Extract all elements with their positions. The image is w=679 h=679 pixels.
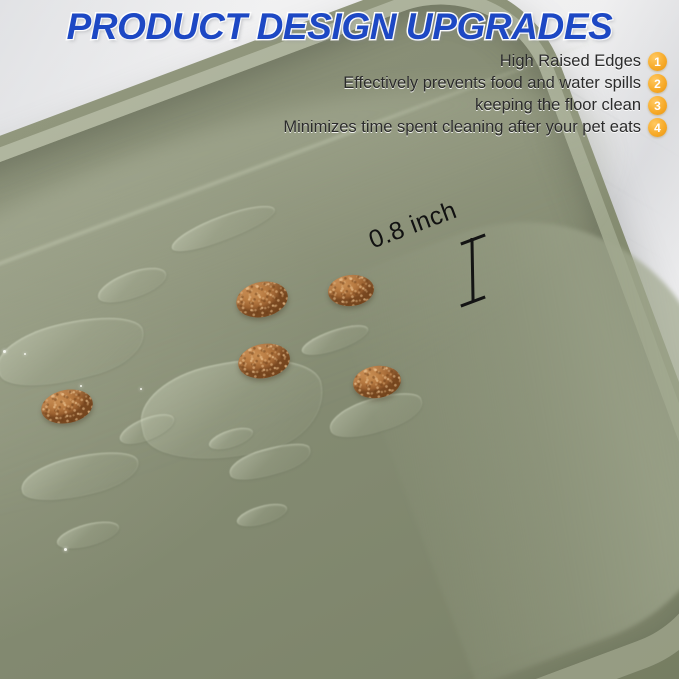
feature-text: Minimizes time spent cleaning after your… bbox=[283, 118, 641, 137]
feature-list: High Raised Edges 1 Effectively prevents… bbox=[27, 52, 667, 137]
list-item: Minimizes time spent cleaning after your… bbox=[283, 118, 667, 137]
feature-number-badge: 2 bbox=[648, 74, 667, 93]
feature-number-badge: 3 bbox=[648, 96, 667, 115]
list-item: Effectively prevents food and water spil… bbox=[343, 74, 667, 93]
feature-number-badge: 4 bbox=[648, 118, 667, 137]
page-title: PRODUCT DESIGN UPGRADES bbox=[0, 6, 679, 48]
feature-number-badge: 1 bbox=[648, 52, 667, 71]
feature-text: Effectively prevents food and water spil… bbox=[343, 74, 641, 93]
list-item: keeping the floor clean 3 bbox=[475, 96, 667, 115]
feature-text: High Raised Edges bbox=[500, 52, 641, 71]
list-item: High Raised Edges 1 bbox=[500, 52, 667, 71]
feature-text: keeping the floor clean bbox=[475, 96, 641, 115]
product-feature-image: 0.8 inch PRODUCT DESIGN UPGRADES High Ra… bbox=[0, 0, 679, 679]
